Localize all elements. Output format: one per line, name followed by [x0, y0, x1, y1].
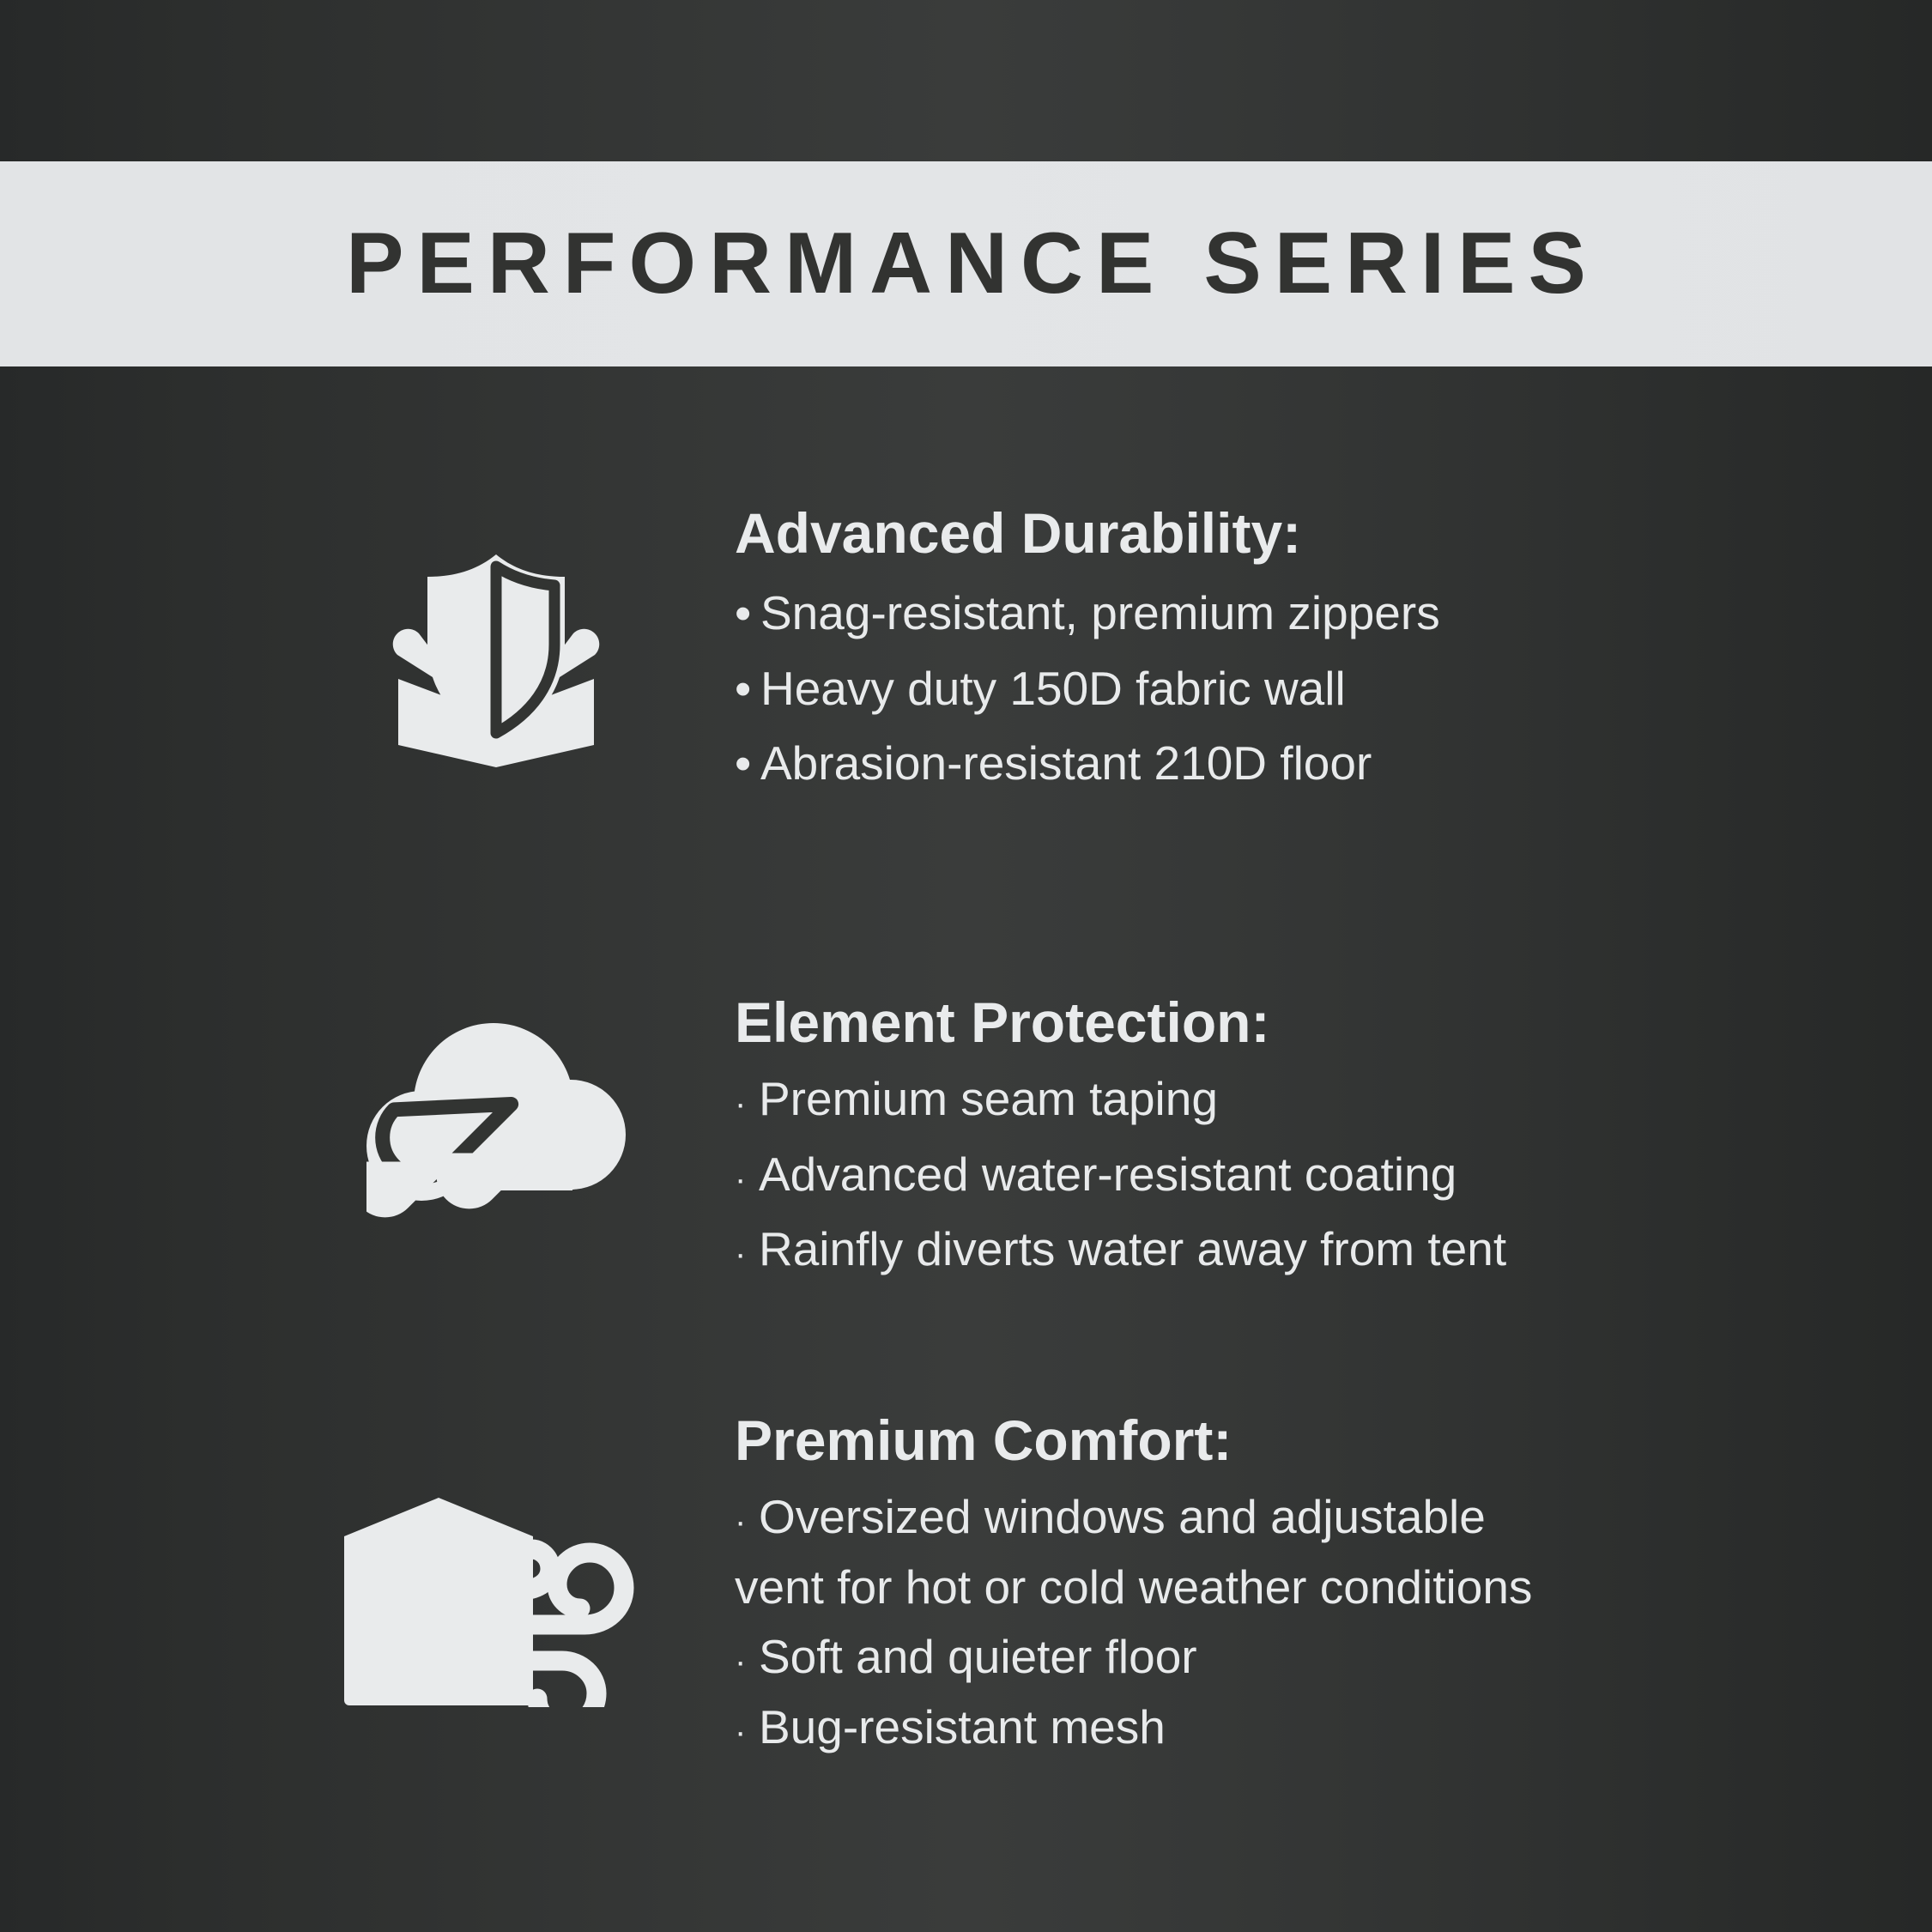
- bullet-icon: •: [735, 663, 760, 716]
- page-title: PERFORMANCE SERIES: [333, 221, 1599, 307]
- feature-section-comfort: Premium Comfort: · Oversized windows and…: [257, 1412, 1717, 1753]
- performance-series-infographic: PERFORMANCE SERIES Advanced: [0, 0, 1932, 1932]
- list-item: · Advanced water-resistant coating: [735, 1148, 1717, 1202]
- bullet-icon: ·: [735, 1713, 759, 1752]
- icon-cell-durability: [257, 505, 735, 767]
- feature-section-protection: Element Protection: · Premium seam tapin…: [257, 994, 1717, 1276]
- text-cell-durability: Advanced Durability: • Snag-resistant, p…: [735, 505, 1717, 790]
- icon-cell-protection: [257, 994, 735, 1234]
- bullet-text: Abrasion-resistant 210D floor: [760, 737, 1372, 790]
- bullet-text: Premium seam taping: [759, 1073, 1218, 1126]
- bullet-text: Advanced water-resistant coating: [759, 1148, 1457, 1202]
- text-cell-protection: Element Protection: · Premium seam tapin…: [735, 994, 1717, 1276]
- bullet-icon: ·: [735, 1643, 759, 1681]
- bullet-text: Heavy duty 150D fabric wall: [760, 663, 1346, 716]
- list-item: • Abrasion-resistant 210D floor: [735, 737, 1717, 790]
- bullet-text: Soft and quieter floor: [759, 1631, 1197, 1684]
- banner: PERFORMANCE SERIES: [0, 161, 1932, 366]
- list-item: · Premium seam taping: [735, 1073, 1717, 1126]
- list-item: • Snag-resistant, premium zippers: [735, 587, 1717, 640]
- feature-heading: Advanced Durability:: [735, 505, 1717, 561]
- shield-deflect-icon: [386, 554, 606, 767]
- bullet-icon: ·: [735, 1235, 759, 1274]
- bullet-text: vent for hot or cold weather conditions: [735, 1561, 1532, 1614]
- feature-heading: Element Protection:: [735, 994, 1717, 1051]
- bullet-icon: ·: [735, 1160, 759, 1199]
- feature-bullet-list: • Snag-resistant, premium zippers • Heav…: [735, 587, 1717, 790]
- list-item: · Bug-resistant mesh: [735, 1701, 1717, 1754]
- list-item: • Heavy duty 150D fabric wall: [735, 663, 1717, 716]
- bullet-icon: •: [735, 587, 760, 640]
- text-cell-comfort: Premium Comfort: · Oversized windows and…: [735, 1412, 1717, 1753]
- feature-bullet-list: · Premium seam taping · Advanced water-r…: [735, 1073, 1717, 1276]
- tent-wind-icon: [337, 1496, 655, 1707]
- bullet-icon: ·: [735, 1503, 759, 1541]
- rain-cloud-icon: [366, 1023, 626, 1234]
- bullet-icon: •: [735, 737, 760, 790]
- bullet-text: Bug-resistant mesh: [759, 1701, 1166, 1754]
- icon-cell-comfort: [257, 1412, 735, 1707]
- feature-bullet-list: · Oversized windows and adjustable vent …: [735, 1491, 1717, 1753]
- bullet-icon: ·: [735, 1085, 759, 1123]
- feature-section-durability: Advanced Durability: • Snag-resistant, p…: [257, 505, 1717, 790]
- bullet-text: Oversized windows and adjustable: [759, 1491, 1486, 1544]
- list-item: · Oversized windows and adjustable: [735, 1491, 1717, 1544]
- bullet-text: Snag-resistant, premium zippers: [760, 587, 1440, 640]
- list-item: · Rainfly diverts water away from tent: [735, 1223, 1717, 1276]
- list-item: · Soft and quieter floor: [735, 1631, 1717, 1684]
- feature-heading: Premium Comfort:: [735, 1412, 1717, 1469]
- bullet-text: Rainfly diverts water away from tent: [759, 1223, 1506, 1276]
- list-item-continuation: vent for hot or cold weather conditions: [735, 1561, 1717, 1614]
